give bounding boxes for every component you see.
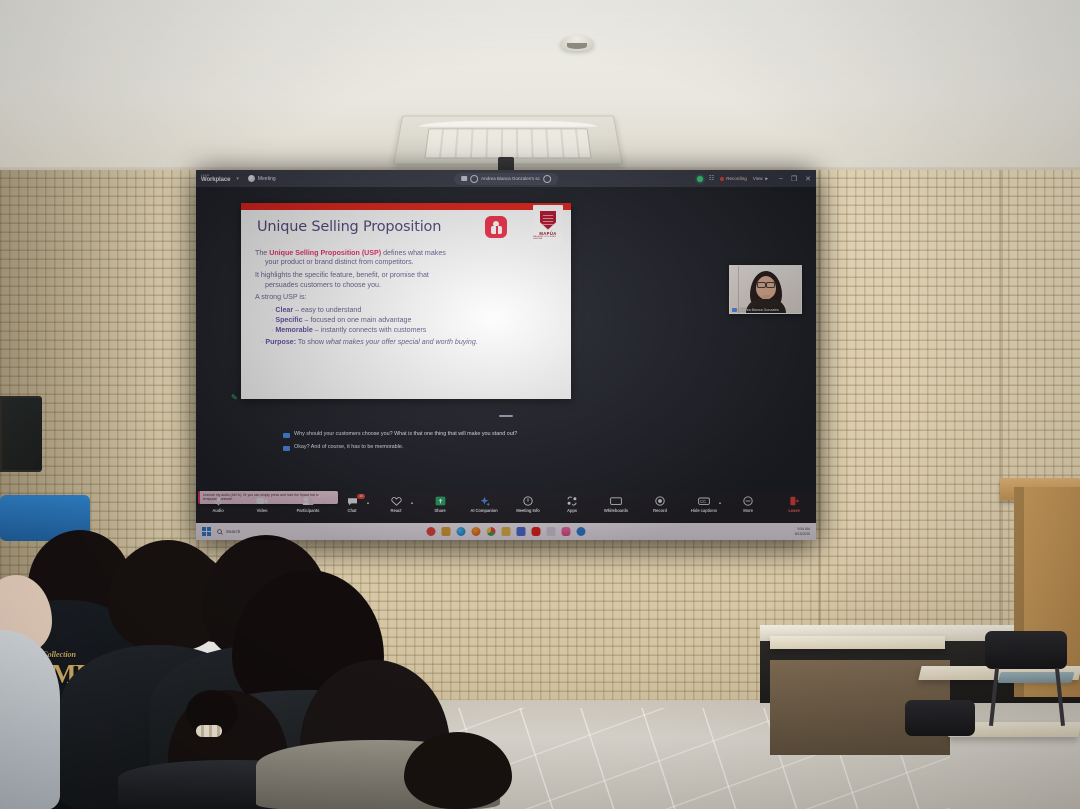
caption-row: Okay? And of course, it has to be memora… [283,444,613,451]
hair-scrunchie [196,725,222,737]
slide-red-bar [241,203,571,210]
toolbar-label: Apps [567,508,577,513]
slide-paragraph-2: It highlights the specific feature, bene… [255,271,555,290]
logo-sub: MALAYAN COLLEGES LAGUNA [533,236,563,240]
caption-text: Why should your customers choose you? Wh… [294,431,517,438]
purpose-pre: To show [296,338,326,346]
bullet-term: Specific [275,316,302,324]
shared-slide[interactable]: MAPÚA MALAYAN COLLEGES LAGUNA Unique Sel… [241,203,571,399]
clock-time: 9:54 AM [795,527,810,531]
titlebar-right-group: ☷ Recording View ► – ❐ ✕ [697,175,811,183]
maximize-button[interactable]: ❐ [791,175,797,183]
toolbar-button-more[interactable]: More [726,495,770,513]
toolbar-label: Chat [348,508,357,513]
meeting-title-pill[interactable]: Andrea Bianca Gonzales's sc [454,173,558,185]
taskbar-left-group: Search [202,527,240,536]
heart-icon [391,495,402,507]
toolbar-label: React [391,508,402,513]
window-controls: – ❐ ✕ [779,175,811,183]
toolbar-button-apps[interactable]: Apps [550,495,594,513]
toolbar-button-whiteboards[interactable]: Whiteboards [594,495,638,513]
close-button[interactable]: ✕ [805,175,811,183]
purpose-term: Purpose: [265,338,296,346]
usp-gift-icon [485,216,507,238]
participant-video-thumbnail[interactable]: Andrea Bianca Gonzales [729,265,802,314]
toolbar-button-participants[interactable]: 1 Participants ▲ [286,495,330,513]
toolbar-button-react[interactable]: React ▲ [374,495,418,513]
taskbar-app-icons [427,527,586,536]
desk [770,636,945,649]
bullet-term: Memorable [275,326,312,334]
slide-bullet-list: Clear – easy to understand Specific – fo… [255,306,555,335]
svg-text:CC: CC [700,499,706,504]
zoom-bottom-toolbar: Unmute my audio (Alt+A). Or you can simp… [196,493,816,523]
slide-paragraph-1: The Unique Selling Proposition (USP) def… [255,249,555,268]
store-icon[interactable] [517,527,526,536]
laptop [997,672,1074,683]
tab-meeting-label: Meeting [258,176,276,182]
chat-bubble-icon [347,495,358,507]
zoom-icon[interactable] [562,527,571,536]
p1-post: defines what makes [381,249,446,257]
clock-date: 8/13/2025 [795,532,810,536]
bullet-rest: – focused on one main advantage [303,316,412,324]
bullet-term: Clear [275,306,293,314]
taskbar-search[interactable]: Search [217,529,240,535]
toolbar-label: More [743,508,753,513]
office-icon[interactable] [427,527,436,536]
view-caret-icon: ► [764,176,768,181]
mail-icon[interactable] [547,527,556,536]
edge-icon[interactable] [457,527,466,536]
zoom-application-window: zoom Workplace ▾ Meeting Andrea Bianca G… [196,170,816,540]
view-button[interactable]: View ► [753,176,769,181]
camera-icon [256,495,268,507]
windows-start-icon[interactable] [202,527,211,536]
ai-sparkle-icon [479,495,490,507]
shield-icon [470,175,478,183]
grid-icon [461,176,467,181]
apps-icon [567,495,577,507]
share-handle-bar[interactable] [499,415,513,417]
list-item: Specific – focused on one main advantage [271,316,555,325]
leave-door-icon [789,495,799,507]
recording-label: Recording [726,176,747,181]
annotation-pointer-icon: ✎ [231,393,238,402]
purpose-italic: what makes your offer special and worth … [326,338,478,346]
chair [985,631,1067,669]
toolbar-label: Share [434,508,445,513]
closed-caption-icon: CC [698,495,710,507]
toolbar-label: Meeting Info [516,508,539,513]
video-on-icon [732,308,737,312]
toolbar-button-chat[interactable]: 10 Chat ▲ [330,495,374,513]
info-circle-icon [523,495,533,507]
network-status-icon[interactable] [697,176,703,182]
meeting-title-text: Andrea Bianca Gonzales's sc [481,176,540,181]
toolbar-label: Record [653,508,667,513]
thumbnail-wall-line [738,266,739,313]
zoom-brand: Workplace [201,177,230,183]
record-circle-icon [655,495,665,507]
list-item: Memorable – instantly connects with cust… [271,326,555,335]
more-ellipsis-icon [743,495,753,507]
chrome-icon[interactable] [487,527,496,536]
meeting-tab-icon [248,175,255,182]
chat-unread-badge: 10 [357,494,365,499]
mapua-logo: MAPÚA MALAYAN COLLEGES LAGUNA [533,205,563,245]
folder-icon[interactable] [442,527,451,536]
bullet-rest: – instantly connects with customers [313,326,427,334]
youtube-icon[interactable] [532,527,541,536]
recording-indicator[interactable]: Recording [720,176,747,181]
toolbar-label: Hide captions [691,508,717,513]
tab-meeting[interactable]: Meeting [248,175,276,182]
smoke-detector-icon [560,35,594,51]
record-dot-icon [720,177,724,181]
chevron-up-icon[interactable]: ▲ [276,500,280,505]
slide-list-intro: A strong USP is: [255,293,555,302]
toolbar-label: Participants [297,508,320,513]
chevron-up-icon[interactable]: ▲ [718,500,722,505]
crest-shield-icon [540,211,556,230]
search-placeholder: Search [226,529,240,534]
toolbar-button-ai-companion[interactable]: AI Companion [462,495,506,513]
toolbar-button-hide-captions[interactable]: CC Hide captions ▲ [682,495,726,513]
toolbar-label: Whiteboards [604,508,628,513]
glasses-icon [757,282,775,286]
toolbar-button-audio[interactable]: Audio ▲ [196,495,240,513]
taskbar-clock[interactable]: 9:54 AM 8/13/2025 [795,527,810,536]
teams-icon[interactable] [577,527,586,536]
view-label: View [753,176,763,181]
minus-circle-icon[interactable] [543,175,551,183]
slide-body: The Unique Selling Proposition (USP) def… [255,249,555,348]
participant-name-badge: Andrea Bianca Gonzales [732,308,779,312]
titlebar-caret-icon[interactable]: ▾ [236,176,239,182]
list-item: Clear – easy to understand [271,306,555,315]
slide-title: Unique Selling Proposition [257,219,441,235]
whiteboard-icon [610,495,622,507]
windows-taskbar: Search 9:54 AM [196,523,816,540]
p2-line2: persuades customers to choose you. [255,281,555,290]
toolbar-label: Audio [212,508,223,513]
toolbar-button-video[interactable]: Video ▲ [240,495,284,513]
p1-line2: your product or brand distinct from comp… [255,258,555,267]
toolbar-button-share[interactable]: Share [418,495,462,513]
wall-mounted-tv [0,396,42,472]
gift-box-shape [491,226,502,234]
p1-pre: The [255,249,269,257]
chevron-up-icon[interactable]: ▲ [366,500,370,505]
closed-caption-icon [283,433,290,438]
wifi-icon: ☷ [709,175,714,182]
slide-purpose-line: Purpose: To show what makes your offer s… [261,338,555,347]
chevron-up-icon[interactable]: ▲ [322,500,326,505]
p1-keyword: Unique Selling Proposition (USP) [269,249,381,257]
toolbar-label: AI Companion [470,508,497,513]
people-icon [302,495,314,507]
chevron-up-icon[interactable]: ▲ [232,500,236,505]
firefox-icon[interactable] [472,527,481,536]
magnifier-icon [217,529,223,535]
caption-row: Why should your customers choose you? Wh… [283,431,613,438]
chair [905,700,975,736]
chevron-up-icon[interactable]: ▲ [410,500,414,505]
projection-screen: zoom Workplace ▾ Meeting Andrea Bianca G… [196,170,816,540]
minimize-button[interactable]: – [779,175,783,182]
toolbar-button-leave[interactable]: Leave [772,495,816,513]
p2-line1: It highlights the specific feature, bene… [255,271,429,279]
zoom-content-area: MAPÚA MALAYAN COLLEGES LAGUNA Unique Sel… [196,187,816,493]
bullet-rest: – easy to understand [293,306,361,314]
share-screen-icon [435,495,446,507]
toolbar-label: Video [257,508,268,513]
closed-caption-icon [283,446,290,451]
toolbar-label: Leave [788,508,799,513]
microphone-icon [214,495,223,507]
zoom-logo: zoom Workplace [201,174,230,183]
participants-count: 1 [318,494,320,498]
files-icon[interactable] [502,527,511,536]
toolbar-button-record[interactable]: Record [638,495,682,513]
live-captions: Why should your customers choose you? Wh… [283,431,613,458]
participant-name: Andrea Bianca Gonzales [739,308,779,312]
classroom-scene: zoom Workplace ▾ Meeting Andrea Bianca G… [0,0,1080,809]
zoom-titlebar: zoom Workplace ▾ Meeting Andrea Bianca G… [196,170,816,187]
toolbar-button-meeting-info[interactable]: Meeting Info [506,495,550,513]
caption-text: Okay? And of course, it has to be memora… [294,444,403,451]
